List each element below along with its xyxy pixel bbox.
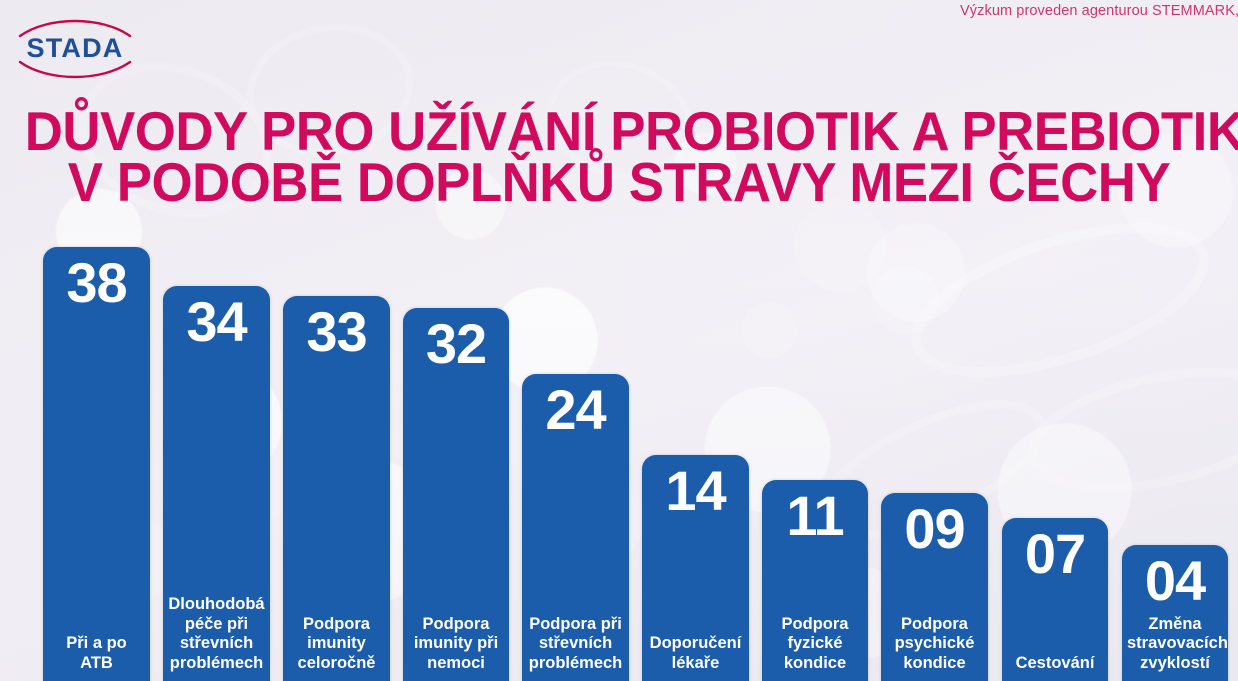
bar-value-7: 11 (786, 488, 843, 544)
bar-value-4: 32 (426, 316, 486, 372)
bar-label-1: Při a po ATB (43, 634, 150, 681)
bar-value-3: 33 (306, 304, 366, 360)
bar-5: 24Podpora při střevních problémech (522, 374, 629, 681)
bar-label-9: Cestování (1002, 654, 1108, 681)
bar-8: 09Podpora psychické kondice (881, 493, 988, 681)
bar-7: 11Podpora fyzické kondice (762, 480, 868, 681)
infographic-canvas: STADA Výzkum proveden agenturou STEMMARK… (0, 0, 1238, 681)
bar-chart: 38Při a po ATB34Dlouhodobá péče při stře… (0, 0, 1238, 681)
bar-label-7: Podpora fyzické kondice (762, 615, 868, 681)
bar-value-9: 07 (1025, 526, 1085, 582)
bar-label-6: Doporučení lékaře (642, 634, 749, 681)
bar-4: 32Podpora imunity při nemoci (403, 308, 509, 681)
bar-label-5: Podpora při střevních problémech (522, 615, 629, 681)
bar-label-8: Podpora psychické kondice (881, 615, 988, 681)
bar-value-5: 24 (545, 382, 605, 438)
bar-value-2: 34 (186, 294, 246, 350)
bar-10: 04Změna stravovacích zvyklostí (1122, 545, 1228, 681)
bar-3: 33Podpora imunity celoročně (283, 296, 390, 681)
bar-label-4: Podpora imunity při nemoci (403, 615, 509, 681)
bar-label-3: Podpora imunity celoročně (283, 615, 390, 681)
bar-value-6: 14 (665, 463, 725, 519)
bar-label-2: Dlouhodobá péče při střevních problémech (163, 595, 270, 681)
bar-value-10: 04 (1145, 553, 1205, 609)
bar-value-1: 38 (66, 255, 126, 311)
bar-9: 07Cestování (1002, 518, 1108, 681)
bar-label-10: Změna stravovacích zvyklostí (1122, 615, 1228, 681)
bar-6: 14Doporučení lékaře (642, 455, 749, 681)
bar-2: 34Dlouhodobá péče při střevních probléme… (163, 286, 270, 681)
bar-value-8: 09 (904, 501, 964, 557)
bar-1: 38Při a po ATB (43, 247, 150, 681)
